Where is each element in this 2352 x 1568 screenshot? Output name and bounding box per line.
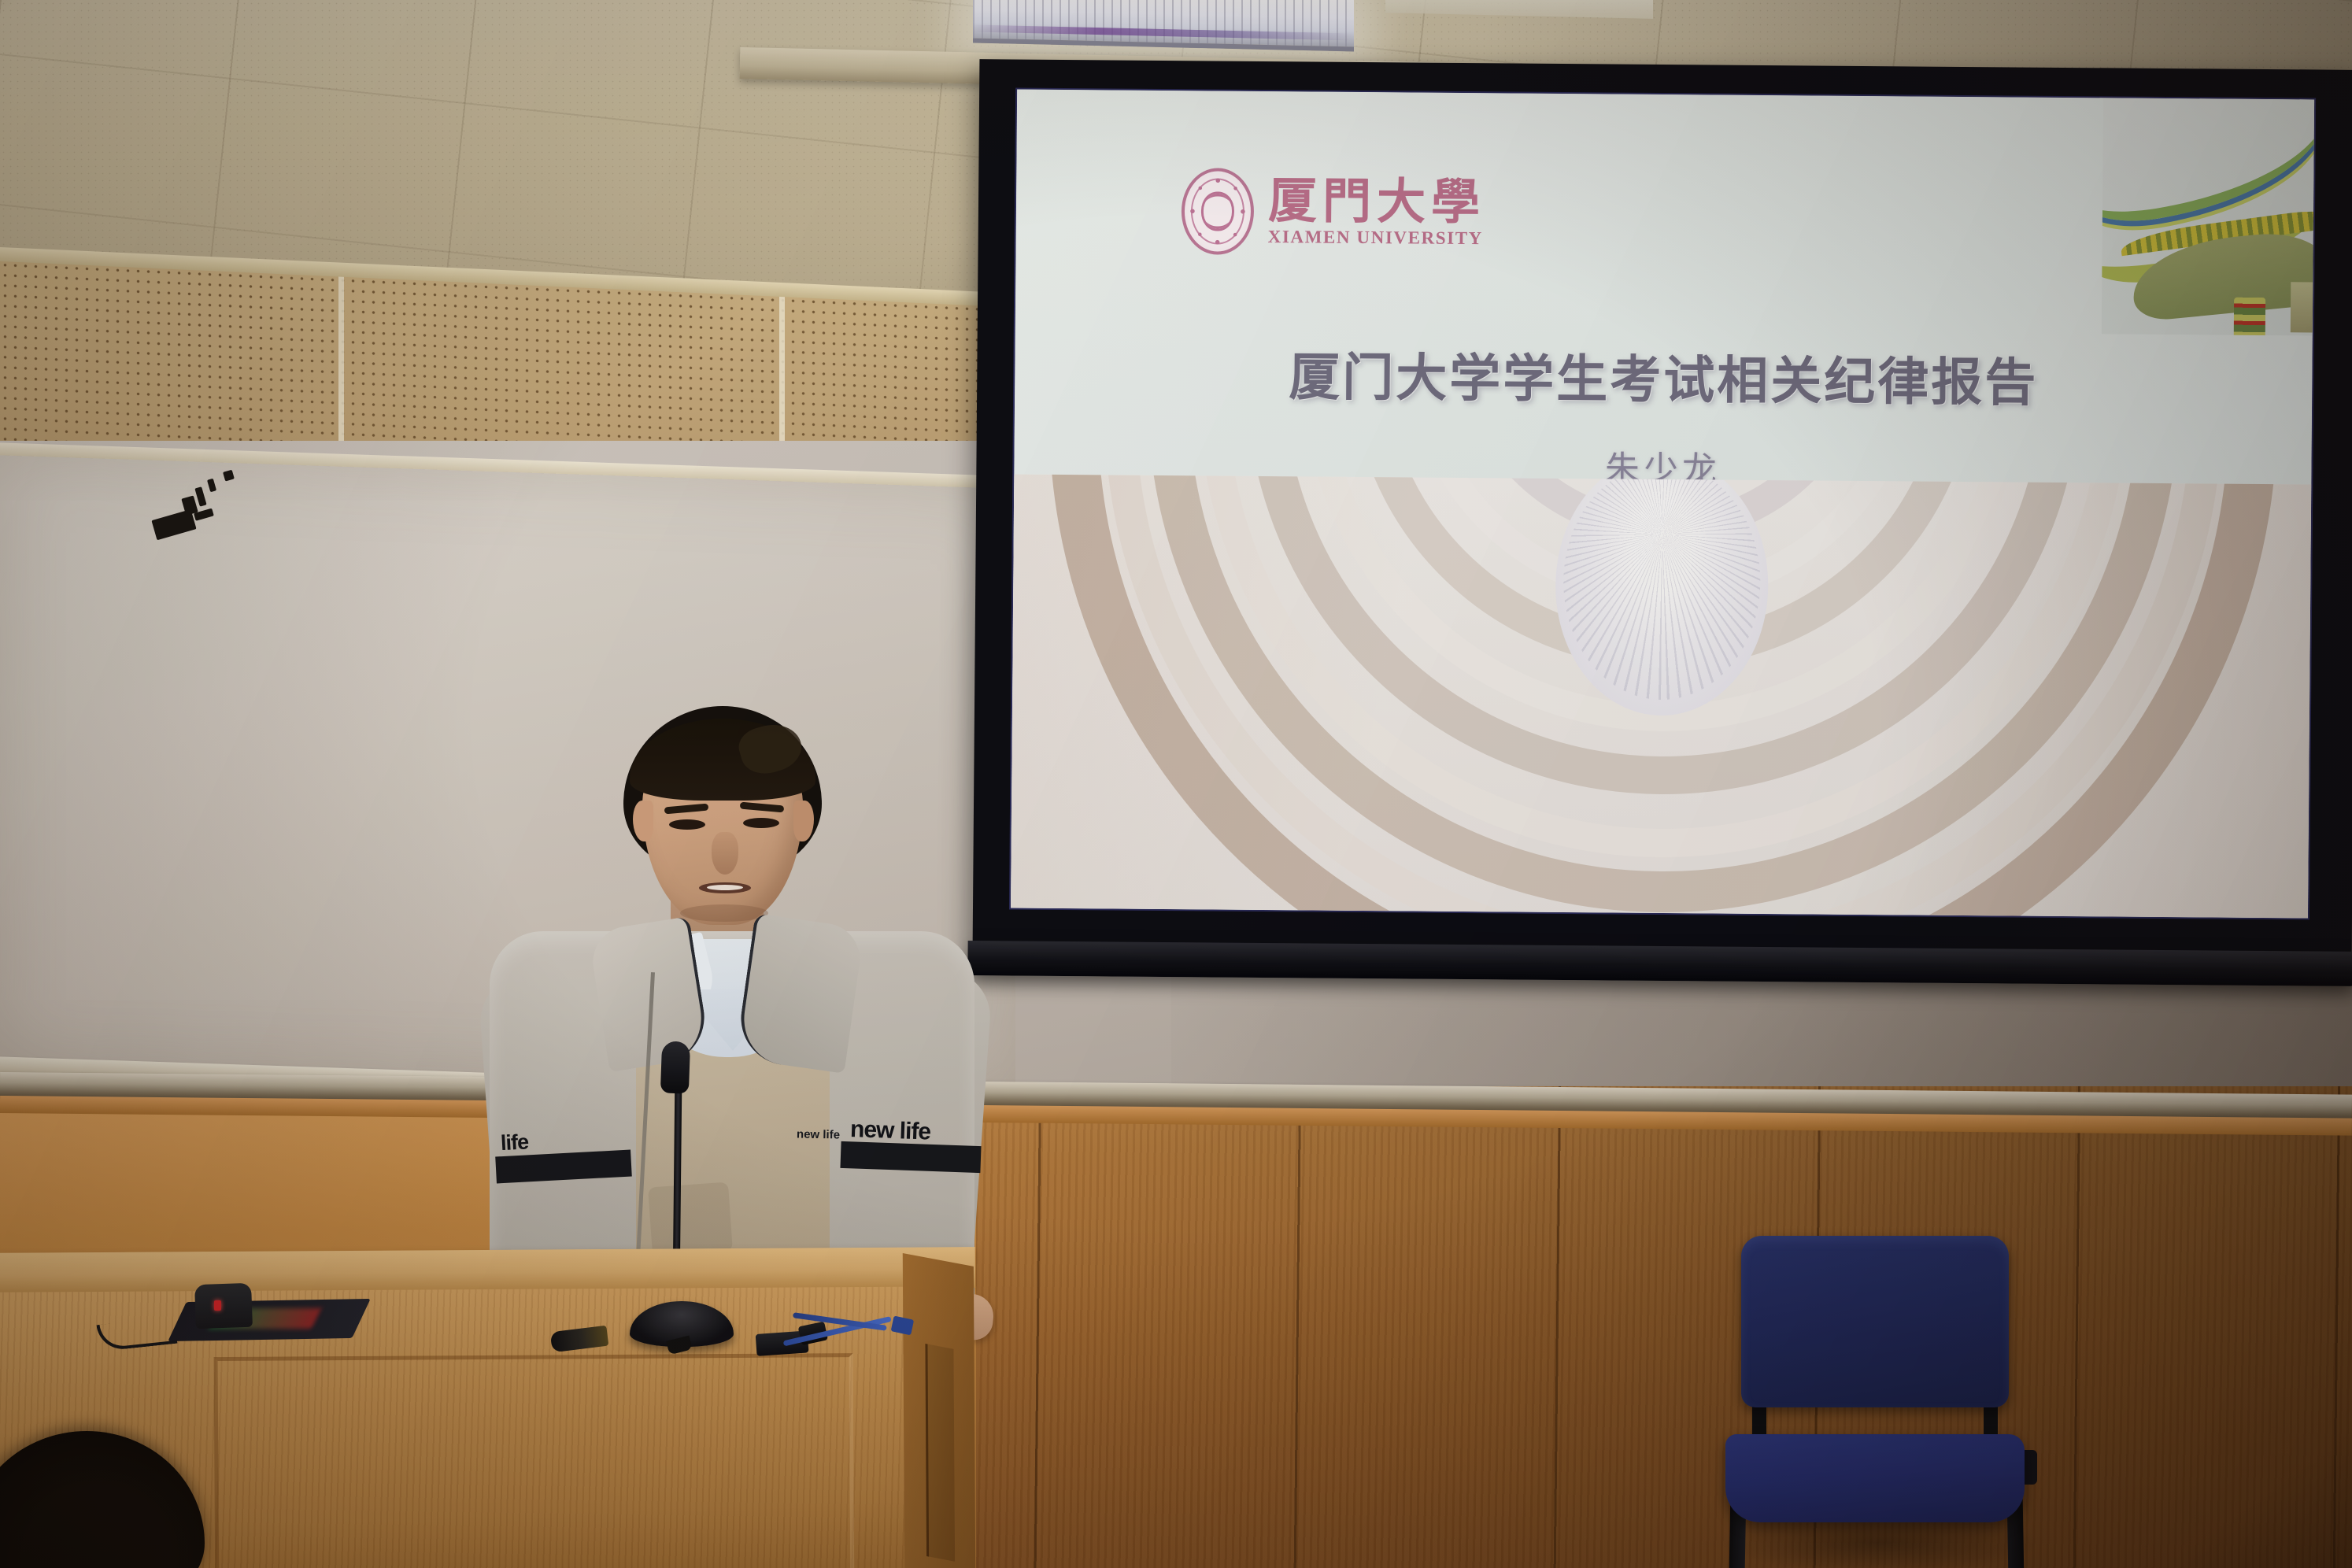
pagoda-eave-photo: [2102, 98, 2314, 335]
eye-right: [743, 818, 779, 828]
microphone-capsule: [660, 1041, 690, 1093]
light-louvers: [973, 0, 1354, 46]
seal-ticks: [1186, 172, 1250, 250]
university-logo: 厦門大學 XIAMEN UNIVERSITY: [1182, 168, 1486, 257]
logo-chinese-name: 厦門大學: [1268, 176, 1485, 227]
ear-left: [633, 801, 653, 841]
wireless-mic-receiver[interactable]: [194, 1283, 253, 1329]
lecture-hall-scene: 厦門大學 XIAMEN UNIVERSITY 厦门大学学生考试相关纪律报告 朱少…: [0, 0, 2352, 1568]
pagoda-bracket: [2291, 282, 2314, 332]
logo-wordmark: 厦門大學 XIAMEN UNIVERSITY: [1268, 176, 1486, 249]
pointer-tip: [891, 1315, 915, 1335]
chair-seat: [1725, 1434, 2025, 1522]
rotunda-photo: [1011, 474, 2311, 918]
stacking-chair[interactable]: [1710, 1236, 2048, 1568]
slide-title: 厦门大学学生考试相关纪律报告: [1015, 334, 2313, 418]
jacket-sleeve-band-right: [840, 1141, 981, 1173]
ceiling-light-fixture: [973, 0, 1354, 51]
lectern-side-inset: [925, 1344, 955, 1562]
receiver-power-led-icon: [214, 1300, 221, 1311]
sweater-pocket: [648, 1182, 733, 1257]
presenter: life new life new life: [504, 712, 960, 1326]
eye-left: [669, 819, 705, 830]
rotunda-vignette: [1011, 474, 2311, 918]
chair-backrest: [1741, 1236, 2009, 1407]
nose: [712, 832, 738, 875]
projection-screen[interactable]: 厦門大學 XIAMEN UNIVERSITY 厦门大学学生考试相关纪律报告 朱少…: [973, 59, 2352, 960]
pagoda-column: [2234, 298, 2265, 336]
wainscot-shading: [856, 1086, 2352, 1568]
lectern-front-inset: [214, 1353, 855, 1568]
jacket-chest-text: new life: [797, 1128, 840, 1142]
slide-canvas: 厦門大學 XIAMEN UNIVERSITY 厦门大学学生考试相关纪律报告 朱少…: [1011, 90, 2314, 919]
xiamen-university-seal-icon: [1182, 168, 1255, 255]
chin-shadow: [680, 904, 768, 922]
teeth: [707, 885, 743, 890]
jacket-collar-right: [735, 913, 865, 1074]
projected-slide: 厦門大學 XIAMEN UNIVERSITY 厦门大学学生考试相关纪律报告 朱少…: [1011, 90, 2314, 919]
logo-english-name: XIAMEN UNIVERSITY: [1268, 227, 1485, 249]
